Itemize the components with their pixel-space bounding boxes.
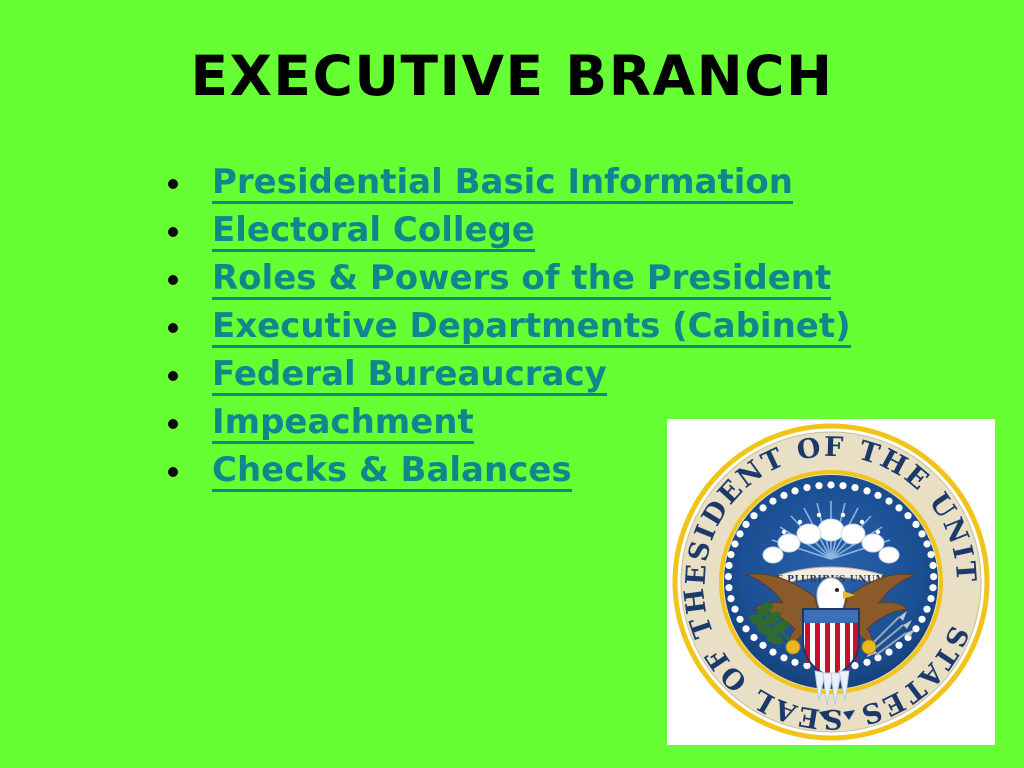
link-executive-departments-cabinet[interactable]: Executive Departments (Cabinet) <box>212 309 851 348</box>
bullet-icon <box>168 467 178 477</box>
list-item[interactable]: Executive Departments (Cabinet) <box>160 304 880 352</box>
presidential-seal-image: PRESIDENT OF THE UNITED STATES SEAL OF T… <box>667 419 995 745</box>
page-title: EXECUTIVE BRANCH <box>0 48 1024 106</box>
list-item[interactable]: Electoral College <box>160 208 880 256</box>
bullet-icon <box>168 323 178 333</box>
list-item[interactable]: Federal Bureaucracy <box>160 352 880 400</box>
presidential-seal-icon: PRESIDENT OF THE UNITED STATES SEAL OF T… <box>667 419 995 745</box>
link-electoral-college[interactable]: Electoral College <box>212 213 535 252</box>
bullet-icon <box>168 275 178 285</box>
link-presidential-basic-information[interactable]: Presidential Basic Information <box>212 165 793 204</box>
bullet-icon <box>168 227 178 237</box>
bullet-icon <box>168 179 178 189</box>
slide-canvas: EXECUTIVE BRANCH Presidential Basic Info… <box>0 0 1024 768</box>
bullet-icon <box>168 419 178 429</box>
list-item[interactable]: Roles & Powers of the President <box>160 256 880 304</box>
bullet-icon <box>168 371 178 381</box>
link-roles-and-powers-of-the-president[interactable]: Roles & Powers of the President <box>212 261 831 300</box>
link-federal-bureaucracy[interactable]: Federal Bureaucracy <box>212 357 607 396</box>
link-checks-and-balances[interactable]: Checks & Balances <box>212 453 572 492</box>
list-item[interactable]: Presidential Basic Information <box>160 160 880 208</box>
link-impeachment[interactable]: Impeachment <box>212 405 474 444</box>
